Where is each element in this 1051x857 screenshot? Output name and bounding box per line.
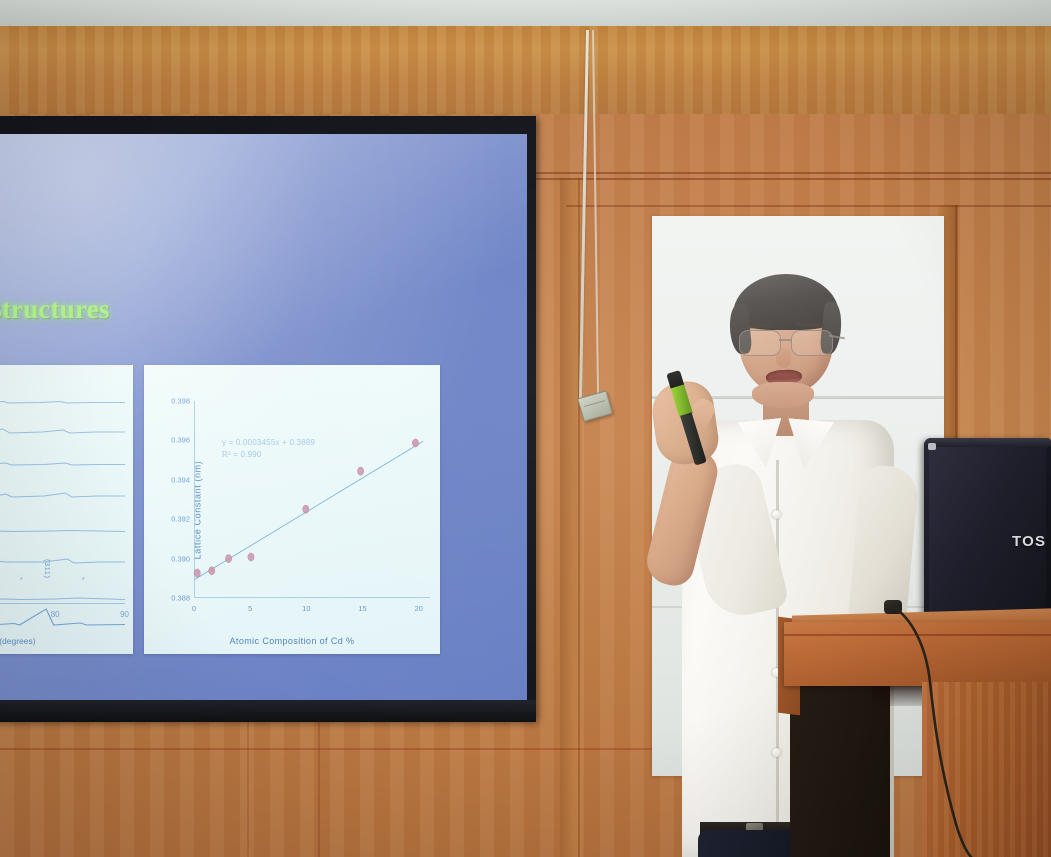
scatter-point — [303, 505, 309, 513]
xrd-trace — [0, 503, 125, 537]
scatter-y-ticks: 0.398 0.396 0.394 0.392 0.390 0.388 — [158, 401, 192, 598]
wall-seam — [318, 718, 320, 857]
scatter-point — [412, 439, 418, 447]
xrd-x-ticks: 60 70 80 90 — [0, 610, 129, 624]
lecture-photo: of Pd-Cd Nanostructures — [0, 0, 1051, 857]
xrd-plot-area — [0, 375, 125, 602]
scatter-svg — [195, 401, 430, 597]
wall-seam — [247, 718, 249, 857]
xrd-trace — [0, 469, 125, 503]
xrd-star-marker: * — [82, 577, 85, 584]
scatter-point — [248, 553, 254, 561]
xrd-trace — [0, 437, 125, 471]
scatter-ytick: 0.398 — [171, 397, 190, 406]
scatter-point — [209, 567, 215, 575]
lattice-constant-chart: Lattice Constant (nm) 0.398 0.396 0.394 … — [144, 365, 440, 654]
xrd-peak-label: (311) — [43, 559, 52, 578]
eyeglass-bridge — [779, 339, 792, 341]
xrd-x-axis-label: 2θ (degrees) — [0, 636, 133, 646]
scatter-x-ticks: 0 5 10 15 20 — [194, 604, 430, 616]
scatter-point — [357, 467, 363, 475]
shirt-button — [772, 510, 781, 519]
laptop-latch — [928, 443, 936, 450]
speaker — [600, 270, 960, 857]
scatter-ytick: 0.388 — [171, 594, 190, 603]
scatter-ytick: 0.394 — [171, 475, 190, 484]
xrd-trace — [0, 535, 125, 569]
wall-trim-line — [530, 172, 1051, 174]
scatter-ytick: 0.396 — [171, 436, 190, 445]
wall-trim-line — [0, 748, 700, 750]
regression-equation: y = 0.0003455x + 0.3889 — [222, 437, 315, 449]
wall-trim-line — [530, 178, 1051, 180]
eyeglass-lens — [791, 330, 833, 356]
podium-woodgrain — [922, 682, 1051, 857]
scatter-point — [194, 569, 200, 577]
scatter-xtick: 20 — [415, 604, 423, 613]
xrd-star-marker: * — [20, 577, 23, 584]
laptop-brand-logo: TOS — [1012, 533, 1046, 550]
laptop[interactable] — [924, 438, 1051, 624]
speaker-nose — [776, 348, 791, 368]
scatter-annotation: y = 0.0003455x + 0.3889 R² = 0.990 — [222, 437, 315, 462]
laptop-hinge — [924, 438, 1051, 447]
r-squared: R² = 0.990 — [222, 449, 315, 461]
xrd-x-axis — [0, 603, 125, 604]
podium-edge-line — [784, 634, 1051, 636]
podium-front-panel — [784, 622, 1051, 686]
projection-screen-bottom-frame — [0, 700, 536, 722]
xrd-trace — [0, 375, 125, 409]
scatter-ytick: 0.392 — [171, 515, 190, 524]
laptop-screen-back — [929, 443, 1046, 619]
scatter-x-axis-label: Atomic Composition of Cd % — [144, 636, 440, 646]
shirt-button — [772, 748, 781, 757]
xrd-xtick: 80 — [51, 610, 60, 624]
xrd-trace — [0, 405, 125, 439]
beam-woodgrain — [0, 26, 1051, 118]
scatter-point — [225, 554, 231, 562]
slide-title: of Pd-Cd Nanostructures — [0, 294, 516, 325]
scatter-ytick: 0.390 — [171, 554, 190, 563]
scatter-xtick: 5 — [248, 604, 252, 613]
eyeglass-lens — [739, 330, 781, 356]
microphone-base — [884, 600, 902, 614]
scatter-xtick: 10 — [302, 604, 310, 613]
wall-seam — [578, 178, 580, 857]
speaker-chin — [752, 382, 814, 408]
presentation-slide: of Pd-Cd Nanostructures — [0, 134, 527, 709]
xrd-chart: (220) (311) * * * * 60 70 80 90 2θ (degr… — [0, 365, 133, 654]
xrd-xtick: 90 — [120, 610, 129, 624]
wall-trim-line — [566, 205, 1051, 207]
scatter-xtick: 15 — [358, 604, 366, 613]
scatter-plot-area — [194, 401, 430, 598]
podium-shadow-area — [790, 686, 890, 857]
scatter-xtick: 0 — [192, 604, 196, 613]
